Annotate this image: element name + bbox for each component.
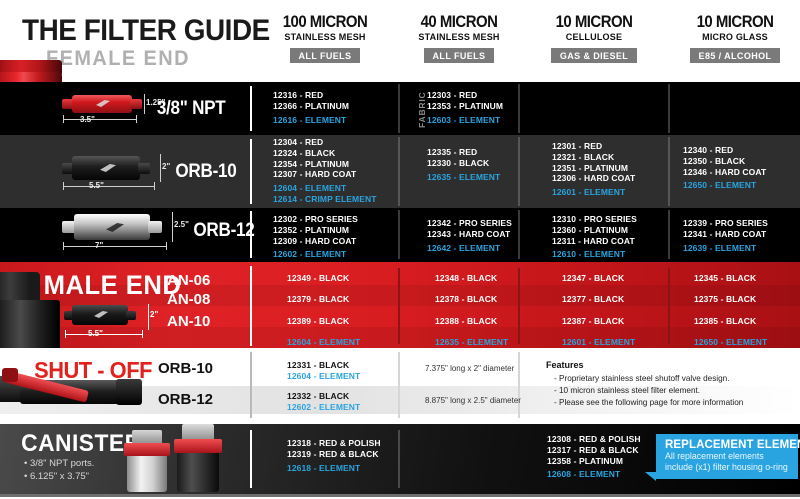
column-material-label: MICRO GLASS bbox=[673, 32, 797, 43]
replacement-elements-callout: REPLACEMENT ELEMENTS All replacement ele… bbox=[656, 434, 798, 479]
header: THE FILTER GUIDE FEMALE END 100 MICRON S… bbox=[0, 0, 800, 82]
cell-orb10-40micron: 12335 - RED 12330 - BLACK 12635 - ELEMEN… bbox=[427, 147, 500, 182]
column-header-40-micron: 40 MICRON STAINLESS MESH ALL FUELS bbox=[400, 13, 518, 64]
column-micron-label: 10 MICRON bbox=[529, 13, 659, 30]
dimension-length-male: 5.5" bbox=[88, 329, 103, 338]
column-header-100-micron: 100 MICRON STAINLESS MESH ALL FUELS bbox=[252, 13, 398, 64]
dimension-tick bbox=[136, 115, 137, 123]
column-micron-label: 100 MICRON bbox=[261, 13, 389, 30]
cell-orb10-100micron: 12304 - RED 12324 - BLACK 12354 - PLATIN… bbox=[273, 137, 377, 205]
section-title-shut-off: SHUT - OFF bbox=[34, 357, 152, 384]
cell-npt-100micron: 12316 - RED 12366 - PLATINUM 12616 - ELE… bbox=[273, 90, 349, 125]
male-row-label-an10: AN-10 bbox=[167, 313, 210, 330]
cell-canister-10micron-cellulose: 12308 - RED & POLISH 12317 - RED & BLACK… bbox=[547, 434, 641, 480]
shut-off-dims-orb12: 8.875" long x 2.5" diameter bbox=[425, 396, 521, 405]
product-photo-canister-black bbox=[174, 424, 222, 492]
column-micron-label: 10 MICRON bbox=[678, 13, 792, 30]
cell-npt-40micron: 12303 - RED 12353 - PLATINUM 12603 - ELE… bbox=[427, 90, 503, 125]
dimension-line bbox=[63, 119, 137, 120]
fabric-tag-label: FABRIC bbox=[417, 92, 427, 128]
cell-male-100micron-an06: 12349 - BLACK bbox=[287, 273, 349, 284]
dimension-diameter-male: 2" bbox=[150, 310, 158, 319]
dimension-diameter-orb10: 2" bbox=[162, 162, 170, 171]
cell-male-10micron-microglass-an08: 12375 - BLACK bbox=[694, 294, 756, 305]
column-material-label: STAINLESS MESH bbox=[256, 32, 395, 43]
features-item: - Proprietary stainless steel shutoff va… bbox=[554, 374, 730, 383]
cell-male-10micron-microglass-element: 12650 - ELEMENT bbox=[694, 337, 767, 348]
dimension-length-npt: 3.5" bbox=[80, 115, 95, 124]
cell-male-10micron-microglass-an10: 12385 - BLACK bbox=[694, 316, 756, 327]
cell-male-10micron-cellulose-an08: 12377 - BLACK bbox=[562, 294, 624, 305]
features-item: - 10 micron stainless steel filter eleme… bbox=[554, 386, 700, 395]
cell-male-40micron-an08: 12378 - BLACK bbox=[435, 294, 497, 305]
shut-off-row-label-orb12: ORB-12 bbox=[158, 391, 213, 408]
column-header-10-micron-cellulose: 10 MICRON CELLULOSE GAS & DIESEL bbox=[520, 13, 668, 64]
cell-orb12-100micron: 12302 - PRO SERIES 12352 - PLATINUM 1230… bbox=[273, 214, 358, 260]
male-row-label-an08: AN-08 bbox=[167, 291, 210, 308]
column-material-label: CELLULOSE bbox=[524, 32, 665, 43]
cell-male-100micron-an08: 12379 - BLACK bbox=[287, 294, 349, 305]
product-photo-canister-polish bbox=[124, 430, 170, 492]
cell-male-40micron-an06: 12348 - BLACK bbox=[435, 273, 497, 284]
column-micron-label: 40 MICRON bbox=[407, 13, 511, 30]
shut-off-dims-orb10: 7.375" long x 2" diameter bbox=[425, 364, 514, 373]
callout-tail bbox=[645, 472, 656, 481]
row-label-orb10: ORB-10 bbox=[175, 161, 236, 183]
cell-male-10micron-cellulose-an10: 12387 - BLACK bbox=[562, 316, 624, 327]
cell-orb10-10micron-cellulose: 12301 - RED 12321 - BLACK 12351 - PLATIN… bbox=[552, 141, 635, 198]
cell-canister-100micron: 12318 - RED & POLISH 12319 - RED & BLACK… bbox=[287, 438, 381, 473]
column-header-10-micron-micro-glass: 10 MICRON MICRO GLASS E85 / ALCOHOL bbox=[670, 13, 800, 64]
product-photo-orb10-filter bbox=[62, 156, 150, 180]
canister-bullet: • 6.125" x 3.75" bbox=[24, 471, 89, 482]
row-label-npt: 3/8" NPT bbox=[157, 98, 226, 120]
replacement-elements-line2: include (x1) filter housing o-ring bbox=[665, 462, 790, 473]
row-label-orb12: ORB-12 bbox=[193, 220, 254, 242]
filter-guide-page: THE FILTER GUIDE FEMALE END 100 MICRON S… bbox=[0, 0, 800, 499]
cell-male-10micron-cellulose-an06: 12347 - BLACK bbox=[562, 273, 624, 284]
features-item: - Please see the following page for more… bbox=[554, 398, 743, 407]
cell-male-10micron-cellulose-element: 12601 - ELEMENT bbox=[562, 337, 635, 348]
cell-orb10-10micron-microglass: 12340 - RED 12350 - BLACK 12346 - HARD C… bbox=[683, 145, 766, 191]
dimension-length-orb12: 7" bbox=[95, 241, 103, 250]
canister-bullet: • 3/8" NPT ports. bbox=[24, 458, 94, 469]
column-fuel-badge: ALL FUELS bbox=[424, 48, 495, 63]
cell-male-100micron-an10: 12389 - BLACK bbox=[287, 316, 349, 327]
dimension-diameter-orb12: 2.5" bbox=[174, 220, 189, 229]
shut-off-row-label-orb10: ORB-10 bbox=[158, 360, 213, 377]
column-fuel-badge: GAS & DIESEL bbox=[551, 48, 637, 63]
dimension-line bbox=[144, 94, 145, 114]
cell-orb12-40micron: 12342 - PRO SERIES 12343 - HARD COAT 126… bbox=[427, 218, 512, 253]
replacement-elements-line1: All replacement elements bbox=[665, 451, 790, 462]
bottom-divider bbox=[0, 494, 800, 497]
features-heading: Features bbox=[546, 360, 584, 370]
dimension-tick bbox=[63, 115, 64, 123]
cell-orb12-10micron-cellulose: 12310 - PRO SERIES 12360 - PLATINUM 1231… bbox=[552, 214, 637, 260]
cell-male-40micron-an10: 12388 - BLACK bbox=[435, 316, 497, 327]
column-material-label: STAINLESS MESH bbox=[403, 32, 515, 43]
product-photo-npt-filter bbox=[62, 95, 142, 113]
cell-male-40micron-element: 12635 - ELEMENT bbox=[435, 337, 508, 348]
cell-shut-off-orb12-code: 12332 - BLACK 12602 - ELEMENT bbox=[287, 391, 360, 413]
column-fuel-badge: ALL FUELS bbox=[290, 48, 361, 63]
product-photo-orb12-filter bbox=[62, 214, 162, 240]
section-title-male-end: MALE END bbox=[44, 270, 182, 301]
cell-male-10micron-microglass-an06: 12345 - BLACK bbox=[694, 273, 756, 284]
male-row-label-an06: AN-06 bbox=[167, 272, 210, 289]
page-subtitle: FEMALE END bbox=[46, 47, 190, 71]
product-photo-male-filter bbox=[64, 305, 136, 325]
dimension-length-orb10: 5.5" bbox=[89, 181, 104, 190]
replacement-elements-title: REPLACEMENT ELEMENTS bbox=[665, 439, 790, 451]
cell-orb12-10micron-microglass: 12339 - PRO SERIES 12341 - HARD COAT 126… bbox=[683, 218, 768, 253]
cell-male-100micron-element: 12604 - ELEMENT bbox=[287, 337, 360, 348]
cell-shut-off-orb10-code: 12331 - BLACK 12604 - ELEMENT bbox=[287, 360, 360, 382]
column-fuel-badge: E85 / ALCOHOL bbox=[690, 48, 781, 63]
page-title: THE FILTER GUIDE bbox=[22, 14, 270, 48]
